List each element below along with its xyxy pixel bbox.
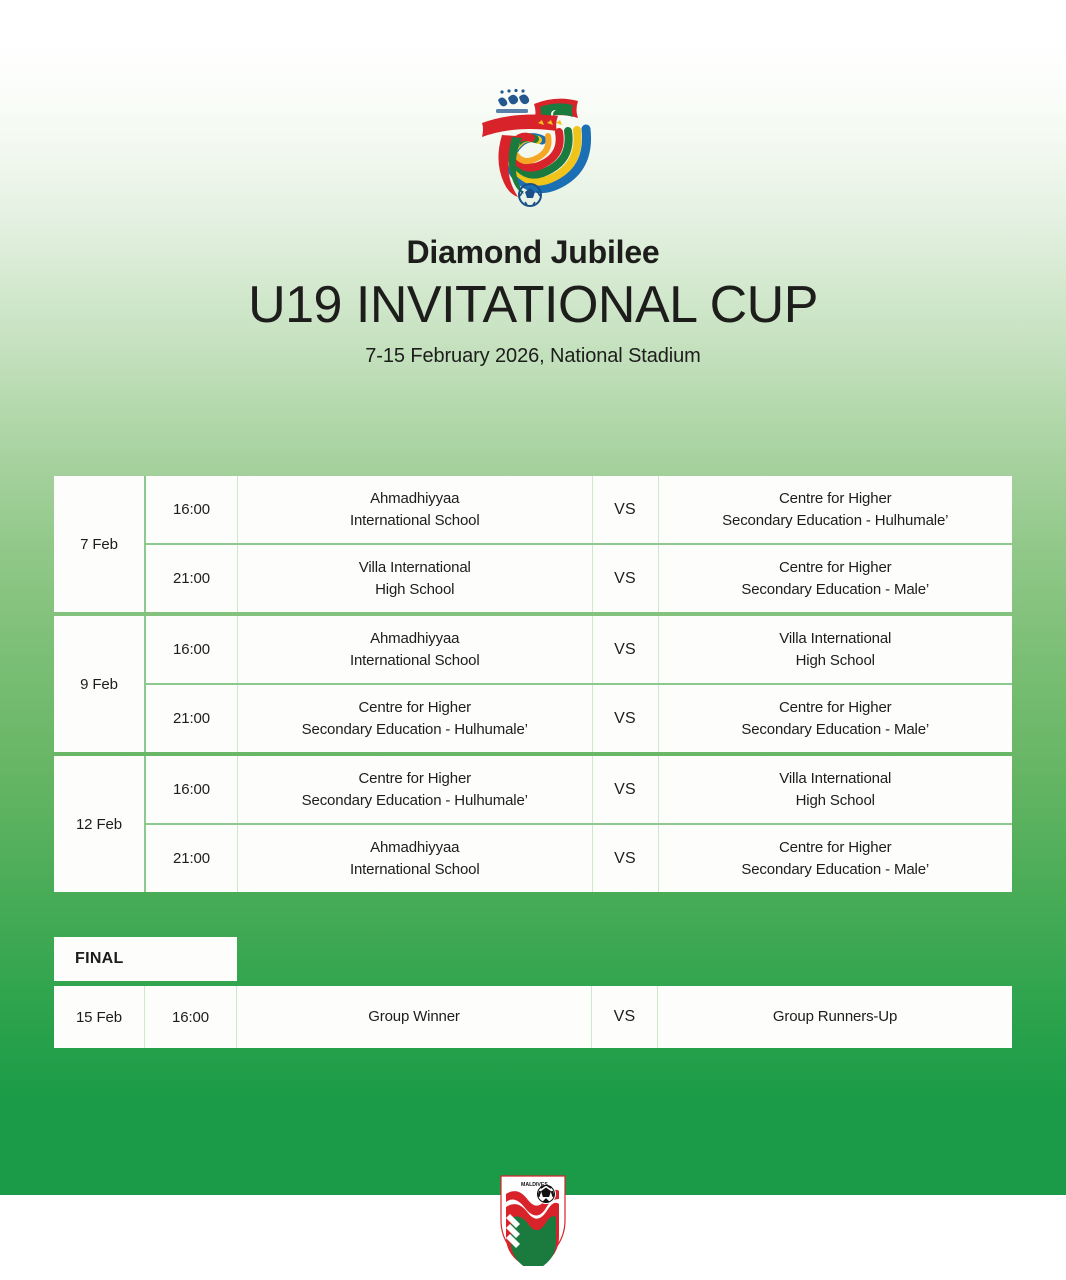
football-association-of-maldives-crest: MALDIVES bbox=[499, 1174, 567, 1266]
vs-label: VS bbox=[591, 986, 658, 1048]
home-team: AhmadhiyyaaInternational School bbox=[238, 825, 592, 892]
match-time: 21:00 bbox=[146, 545, 238, 612]
home-team: Villa InternationalHigh School bbox=[238, 545, 592, 612]
vs-label: VS bbox=[592, 685, 659, 752]
away-team: Centre for HigherSecondary Education - M… bbox=[659, 825, 1013, 892]
vs-label: VS bbox=[592, 476, 659, 543]
event-dates-and-venue: 7-15 February 2026, National Stadium bbox=[0, 345, 1066, 368]
away-team: Centre for HigherSecondary Education - M… bbox=[659, 685, 1013, 752]
table-row: 21:00 AhmadhiyyaaInternational School VS… bbox=[146, 825, 1012, 892]
final-section: FINAL 15 Feb 16:00 Group Winner VS Group… bbox=[54, 937, 1012, 1048]
diamond-jubilee-75-logo bbox=[468, 82, 598, 210]
match-date: 15 Feb bbox=[54, 986, 145, 1048]
home-team: Centre for HigherSecondary Education - H… bbox=[238, 685, 592, 752]
page-title: U19 INVITATIONAL CUP bbox=[0, 276, 1066, 334]
table-row: 21:00 Villa InternationalHigh School VS … bbox=[146, 545, 1012, 612]
footer-logo-container: MALDIVES bbox=[0, 1174, 1066, 1266]
match-time: 16:00 bbox=[146, 756, 238, 823]
match-time: 16:00 bbox=[145, 986, 237, 1048]
match-time: 21:00 bbox=[146, 685, 238, 752]
day-block: 7 Feb 16:00 AhmadhiyyaaInternational Sch… bbox=[54, 476, 1012, 612]
table-row: 15 Feb 16:00 Group Winner VS Group Runne… bbox=[54, 986, 1012, 1048]
table-row: 16:00 AhmadhiyyaaInternational School VS… bbox=[146, 476, 1012, 545]
match-time: 16:00 bbox=[146, 616, 238, 683]
match-time: 16:00 bbox=[146, 476, 238, 543]
table-row: 21:00 Centre for HigherSecondary Educati… bbox=[146, 685, 1012, 752]
home-team: Group Winner bbox=[237, 986, 591, 1048]
away-team: Villa InternationalHigh School bbox=[659, 616, 1013, 683]
home-team: AhmadhiyyaaInternational School bbox=[238, 616, 592, 683]
vs-label: VS bbox=[592, 825, 659, 892]
away-team: Villa InternationalHigh School bbox=[659, 756, 1013, 823]
home-team: AhmadhiyyaaInternational School bbox=[238, 476, 592, 543]
match-date: 7 Feb bbox=[54, 476, 146, 612]
logo-container bbox=[0, 82, 1066, 210]
day-block: 9 Feb 16:00 AhmadhiyyaaInternational Sch… bbox=[54, 616, 1012, 752]
away-team: Group Runners-Up bbox=[658, 986, 1012, 1048]
away-team: Centre for HigherSecondary Education - M… bbox=[659, 545, 1013, 612]
final-heading: FINAL bbox=[54, 937, 237, 981]
event-subtitle-diamond-jubilee: Diamond Jubilee bbox=[0, 234, 1066, 271]
match-time: 21:00 bbox=[146, 825, 238, 892]
crest-wordmark: MALDIVES bbox=[521, 1182, 548, 1188]
vs-label: VS bbox=[592, 616, 659, 683]
table-row: 16:00 Centre for HigherSecondary Educati… bbox=[146, 756, 1012, 825]
vs-label: VS bbox=[592, 756, 659, 823]
table-row: 16:00 AhmadhiyyaaInternational School VS… bbox=[146, 616, 1012, 685]
home-team: Centre for HigherSecondary Education - H… bbox=[238, 756, 592, 823]
day-block: 12 Feb 16:00 Centre for HigherSecondary … bbox=[54, 756, 1012, 892]
group-stage-schedule-table: 7 Feb 16:00 AhmadhiyyaaInternational Sch… bbox=[54, 476, 1012, 892]
match-date: 9 Feb bbox=[54, 616, 146, 752]
tournament-schedule-poster: Diamond Jubilee U19 INVITATIONAL CUP 7-1… bbox=[0, 0, 1066, 1280]
vs-label: VS bbox=[592, 545, 659, 612]
logo-dhivehi-script bbox=[496, 89, 529, 113]
match-date: 12 Feb bbox=[54, 756, 146, 892]
away-team: Centre for HigherSecondary Education - H… bbox=[659, 476, 1013, 543]
title-block: Diamond Jubilee U19 INVITATIONAL CUP 7-1… bbox=[0, 234, 1066, 368]
logo-swirl-ribbons bbox=[510, 129, 586, 189]
